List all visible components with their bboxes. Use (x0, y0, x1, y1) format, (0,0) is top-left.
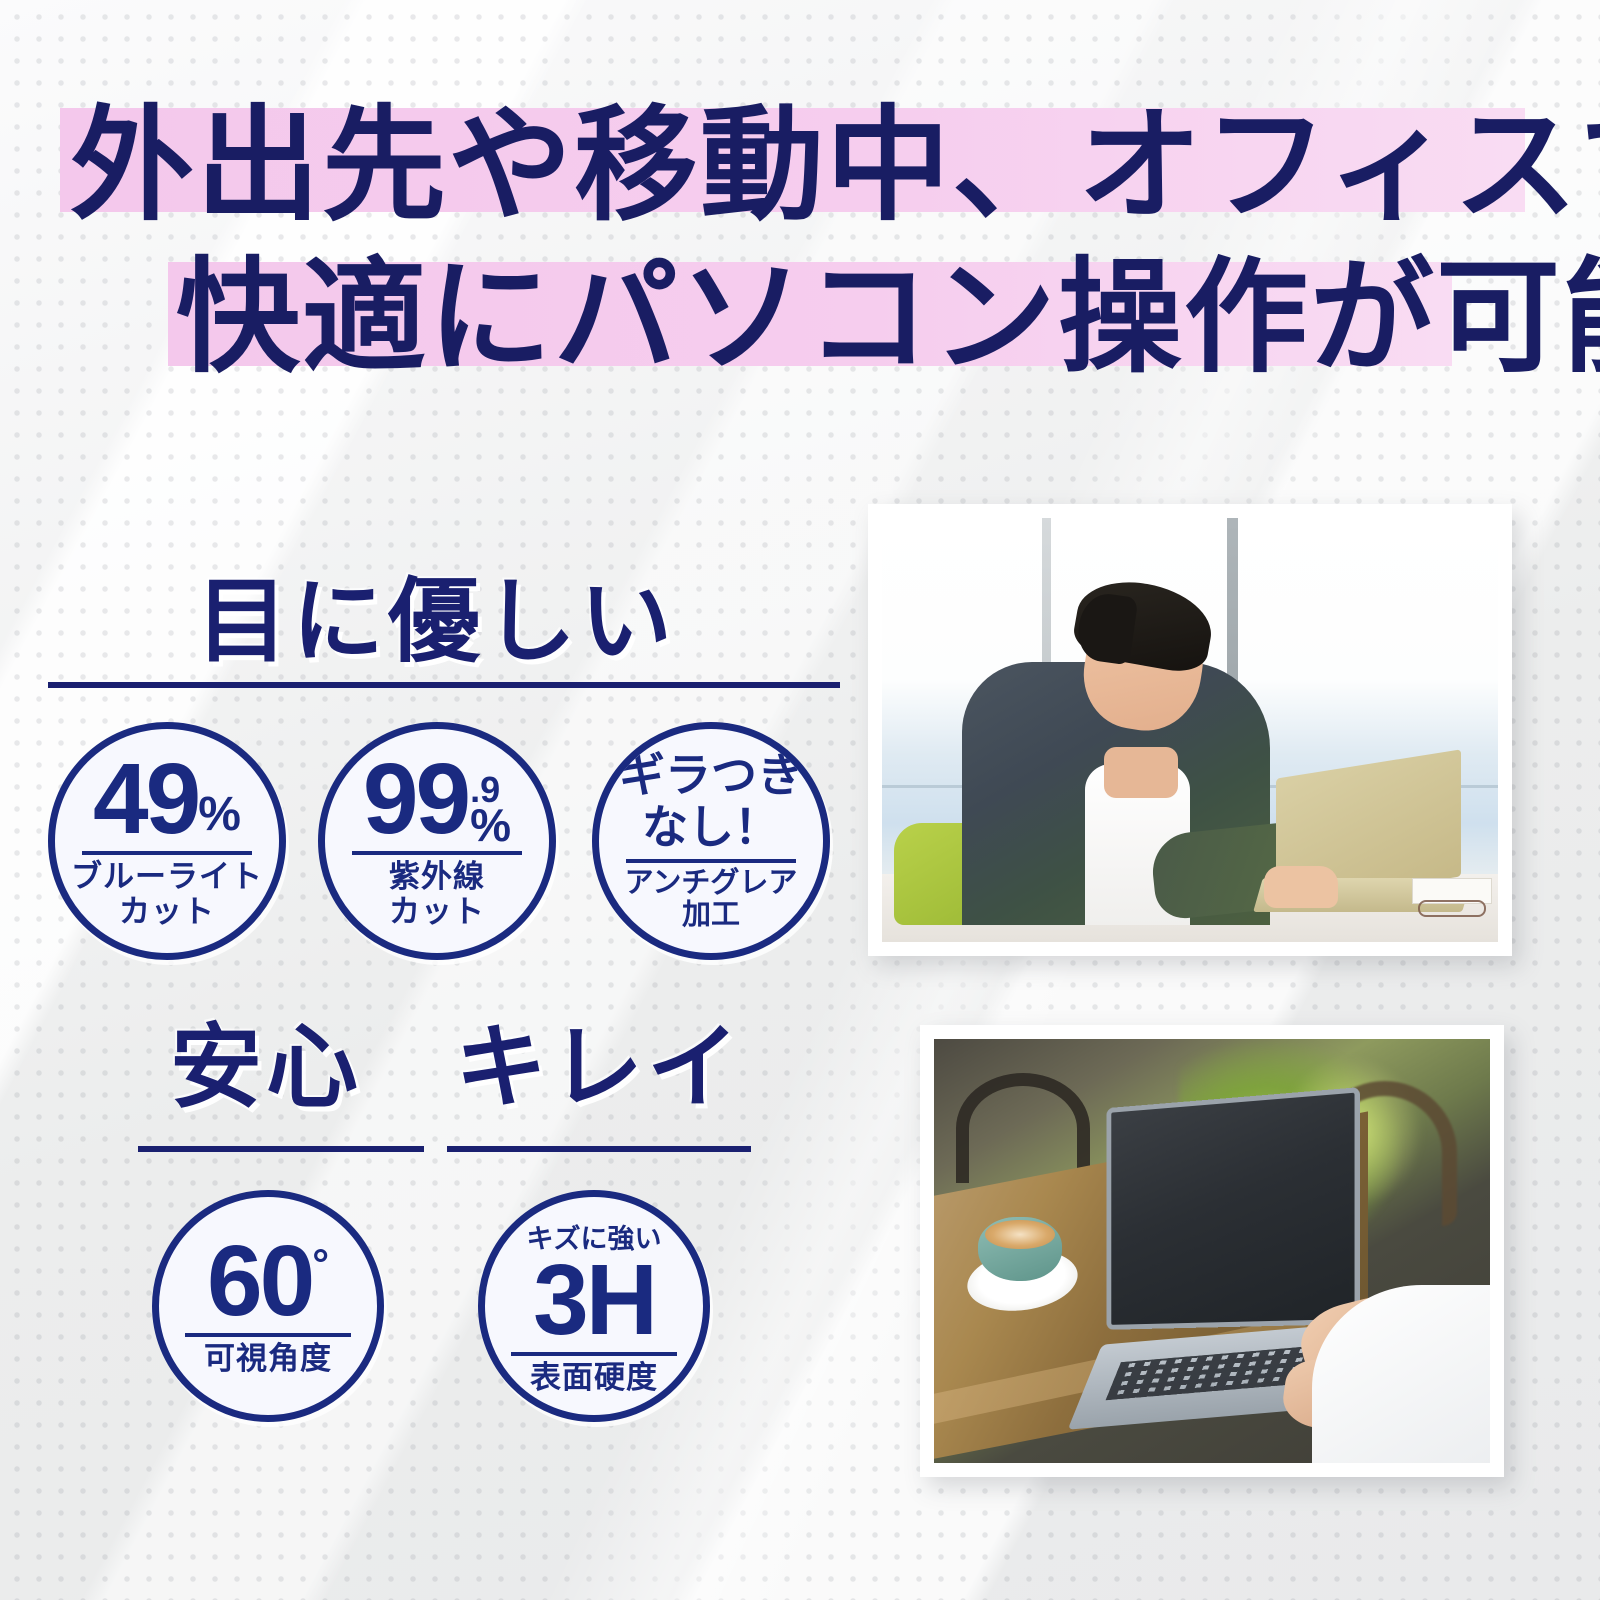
badge-bluelight-value: 49 % (93, 753, 241, 845)
badge-surface-hardness: キズに強い 3H 表面硬度 (478, 1190, 710, 1422)
badge-uv-caption-line1: 紫外線 (389, 859, 485, 894)
badge-viewing-angle-divider (185, 1333, 351, 1337)
photo-cafe-inner (934, 1039, 1490, 1463)
badge-bluelight-number: 49 (93, 753, 198, 845)
badge-anti-glare-line1: ギラつき (619, 749, 803, 801)
badge-viewing-angle-value: 60 ° (207, 1235, 329, 1327)
badge-anti-glare: ギラつき なし！ アンチグレア 加工 (592, 722, 830, 960)
cafe-latte-art (985, 1220, 1055, 1250)
badge-uv-divider (352, 851, 522, 855)
badge-uv-cut: 99 .9 % 紫外線 カット (318, 722, 556, 960)
photo-office-inner (882, 518, 1498, 942)
section-rule-safety (138, 1146, 424, 1152)
headline-line1: 外出先や移動中、オフィスでも (70, 104, 1600, 228)
badge-surface-hardness-number: 3H (533, 1254, 655, 1346)
badge-viewing-angle-degree: ° (312, 1245, 329, 1284)
section-rule-eyes (48, 682, 840, 688)
badge-viewing-angle-caption: 可視角度 (204, 1342, 332, 1376)
badge-anti-glare-caption-line1: アンチグレア (625, 867, 798, 899)
badge-anti-glare-value: ギラつき なし！ (619, 750, 803, 853)
badge-bluelight-percent: % (198, 793, 241, 837)
badge-surface-hardness-caption: 表面硬度 (530, 1361, 658, 1395)
badge-surface-hardness-value: 3H (533, 1254, 655, 1346)
badge-anti-glare-caption: アンチグレア 加工 (625, 868, 798, 932)
badge-anti-glare-caption-line2: 加工 (682, 899, 740, 931)
badge-bluelight-caption-line1: ブルーライト (71, 859, 263, 894)
cafe-chair-left (956, 1073, 1089, 1183)
badge-bluelight-caption: ブルーライト カット (71, 860, 263, 928)
section-title-clarity: キレイ (455, 1022, 743, 1114)
cafe-laptop-screen (1106, 1087, 1359, 1330)
section-rule-clarity (447, 1146, 751, 1152)
badge-viewing-angle-number: 60 (207, 1235, 312, 1327)
badge-bluelight-caption-line2: カット (119, 894, 215, 929)
badge-bluelight-divider (82, 851, 252, 855)
badge-bluelight-cut: 49 % ブルーライト カット (48, 722, 286, 960)
badge-uv-percent: % (470, 806, 511, 845)
section-title-safety: 安心 (170, 1022, 362, 1114)
office-eyeglasses (1418, 900, 1486, 917)
badge-anti-glare-divider (626, 859, 796, 863)
office-man-hand (1264, 866, 1338, 908)
badge-viewing-angle: 60 ° 可視角度 (152, 1190, 384, 1422)
badge-uv-caption: 紫外線 カット (389, 860, 485, 928)
badge-uv-number: 99 (363, 753, 468, 845)
office-man-neck (1104, 747, 1178, 798)
badge-uv-caption-line2: カット (389, 894, 485, 929)
badge-uv-value: 99 .9 % (363, 753, 511, 845)
badge-surface-hardness-divider (511, 1352, 677, 1356)
badge-anti-glare-line2: なし！ (642, 801, 780, 853)
photo-office-man-laptop (868, 504, 1512, 956)
badge-uv-superscript: .9 % (470, 776, 511, 846)
photo-cafe-laptop (920, 1025, 1504, 1477)
section-title-eyes: 目に優しい (196, 576, 676, 668)
headline-line2: 快適にパソコン操作が可能 (176, 256, 1600, 380)
